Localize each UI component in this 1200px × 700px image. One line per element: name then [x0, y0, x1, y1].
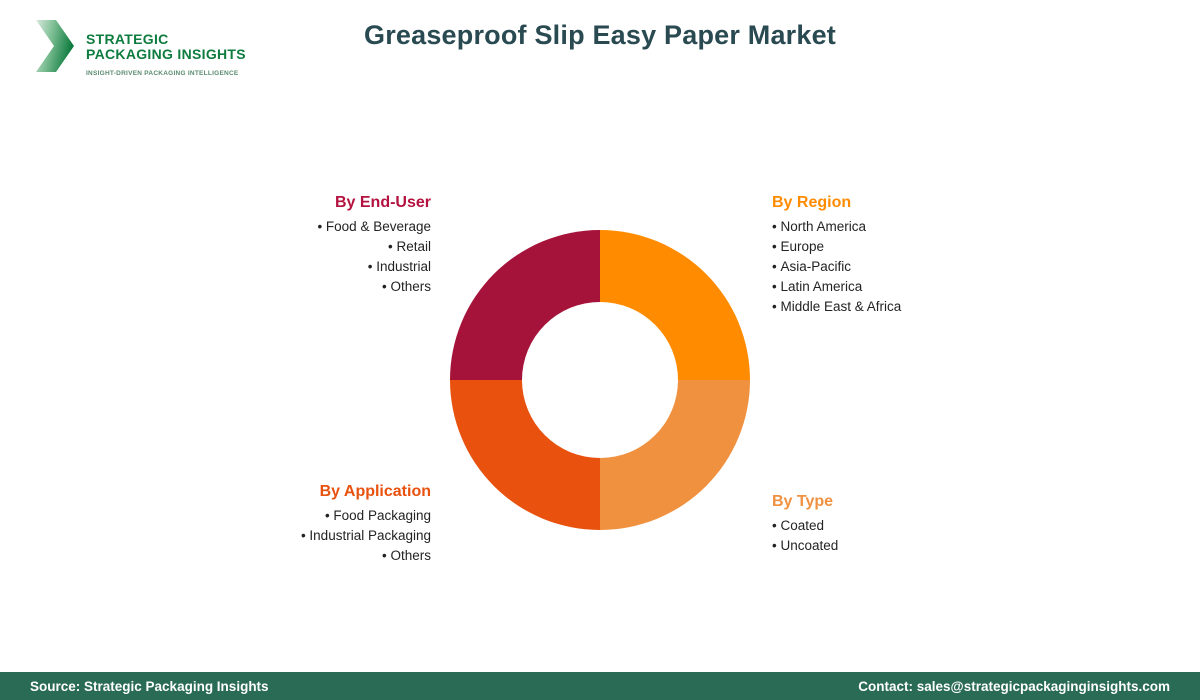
- donut-hole: [522, 302, 678, 458]
- list-item-label: Industrial Packaging: [309, 528, 431, 543]
- list-item: • Uncoated: [772, 536, 1032, 556]
- page-title: Greaseproof Slip Easy Paper Market: [0, 20, 1200, 51]
- list-item: • Others: [188, 277, 431, 297]
- list-item-label: Coated: [780, 518, 824, 533]
- footer-contact: Contact: sales@strategicpackaginginsight…: [858, 679, 1200, 694]
- segment-region-heading: By Region: [772, 194, 1032, 212]
- segment-region-list: • North America • Europe • Asia-Pacific …: [772, 217, 1032, 317]
- segment-enduser: By End-User • Food & Beverage • Retail •…: [188, 194, 431, 297]
- list-item-label: Others: [390, 279, 431, 294]
- list-item-label: Middle East & Africa: [780, 299, 901, 314]
- list-item-label: Europe: [780, 239, 824, 254]
- list-item-label: Food Packaging: [333, 508, 431, 523]
- segment-enduser-heading: By End-User: [188, 194, 431, 212]
- list-item: • Industrial Packaging: [188, 526, 431, 546]
- segment-application-heading: By Application: [188, 483, 431, 501]
- list-item: • Food & Beverage: [188, 217, 431, 237]
- logo-tagline: INSIGHT-DRIVEN PACKAGING INTELLIGENCE: [86, 70, 239, 77]
- list-item-label: Uncoated: [780, 538, 838, 553]
- segment-type: By Type • Coated • Uncoated: [772, 493, 1032, 556]
- list-item: • Europe: [772, 237, 1032, 257]
- segment-type-list: • Coated • Uncoated: [772, 516, 1032, 556]
- segment-application: By Application • Food Packaging • Indust…: [188, 483, 431, 566]
- list-item-label: Industrial: [376, 259, 431, 274]
- list-item: • Middle East & Africa: [772, 297, 1032, 317]
- segment-enduser-list: • Food & Beverage • Retail • Industrial …: [188, 217, 431, 297]
- list-item: • Retail: [188, 237, 431, 257]
- segment-application-list: • Food Packaging • Industrial Packaging …: [188, 506, 431, 566]
- segment-type-heading: By Type: [772, 493, 1032, 511]
- list-item: • Asia-Pacific: [772, 257, 1032, 277]
- list-item: • North America: [772, 217, 1032, 237]
- list-item-label: Others: [390, 548, 431, 563]
- list-item-label: Food & Beverage: [326, 219, 431, 234]
- footer-bar: Source: Strategic Packaging Insights Con…: [0, 672, 1200, 700]
- donut-chart: [450, 229, 750, 531]
- list-item-label: Latin America: [780, 279, 862, 294]
- list-item: • Latin America: [772, 277, 1032, 297]
- infographic-page: STRATEGIC PACKAGING INSIGHTS INSIGHT-DRI…: [0, 0, 1200, 700]
- list-item-label: North America: [780, 219, 866, 234]
- segment-region: By Region • North America • Europe • Asi…: [772, 194, 1032, 317]
- list-item-label: Retail: [396, 239, 431, 254]
- donut-chart-svg: [450, 229, 750, 531]
- list-item: • Industrial: [188, 257, 431, 277]
- list-item: • Others: [188, 546, 431, 566]
- list-item-label: Asia-Pacific: [780, 259, 851, 274]
- list-item: • Food Packaging: [188, 506, 431, 526]
- list-item: • Coated: [772, 516, 1032, 536]
- footer-source: Source: Strategic Packaging Insights: [0, 679, 269, 694]
